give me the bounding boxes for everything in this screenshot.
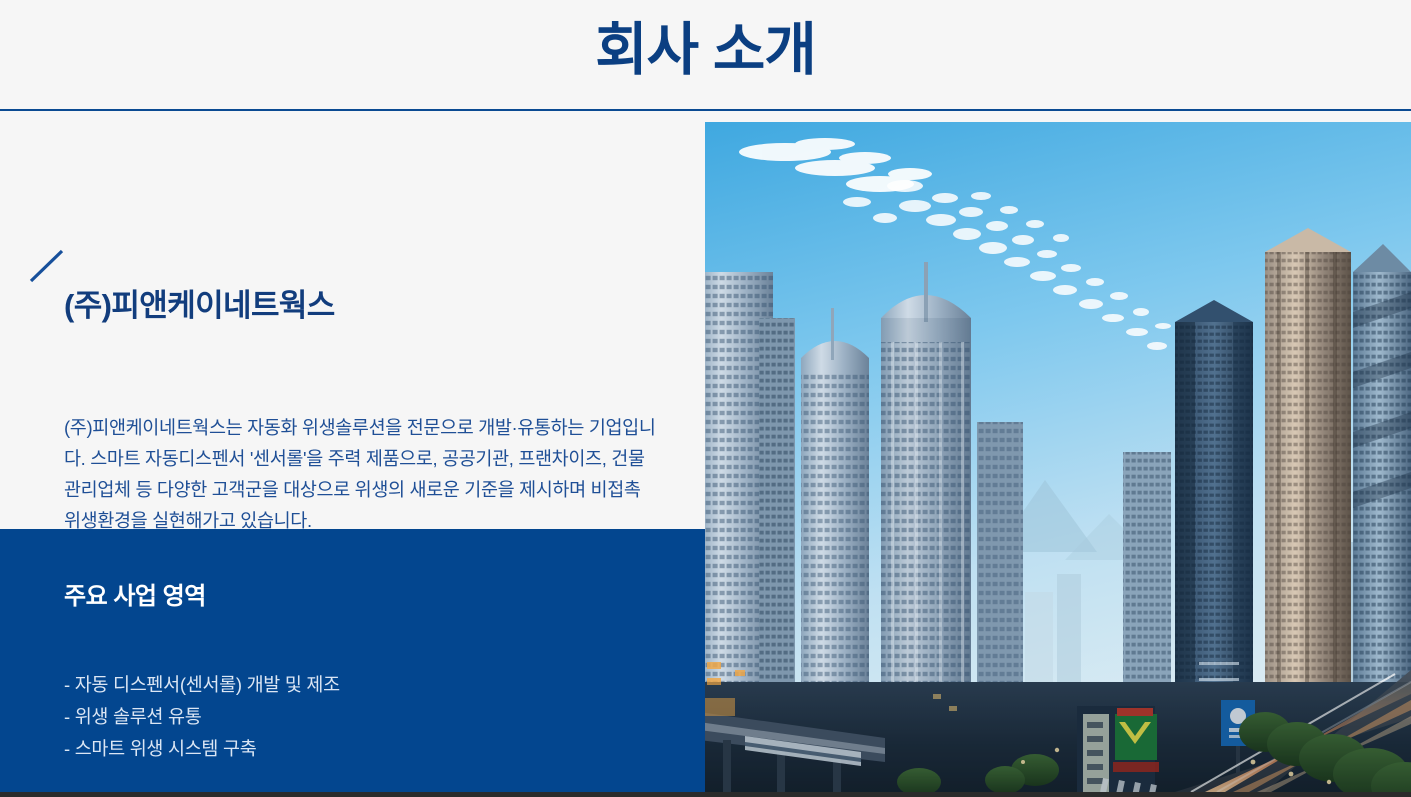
business-areas-list: - 자동 디스펜서(센서롤) 개발 및 제조 - 위생 솔루션 유통 - 스마트… — [64, 669, 624, 765]
company-description: (주)피앤케이네트웍스는 자동화 위생솔루션을 전문으로 개발·유통하는 기업입… — [64, 412, 658, 536]
business-areas-heading: 주요 사업 영역 — [64, 576, 206, 611]
bottom-edge-bar — [0, 792, 1411, 797]
list-item: - 자동 디스펜서(센서롤) 개발 및 제조 — [64, 669, 624, 701]
list-item: - 스마트 위생 시스템 구축 — [64, 733, 624, 765]
business-areas-panel: 주요 사업 영역 - 자동 디스펜서(센서롤) 개발 및 제조 - 위생 솔루션… — [0, 529, 706, 792]
city-skyline-photo — [705, 122, 1411, 792]
slide-canvas: 회사 소개 (주)피앤케이네트웍스 (주)피앤케이네트웍스는 자동화 위생솔루션… — [0, 0, 1411, 797]
diagonal-slash-accent-icon — [28, 247, 68, 285]
slide-header: 회사 소개 — [0, 0, 1411, 111]
company-name: (주)피앤케이네트웍스 — [64, 287, 335, 324]
company-intro-panel: (주)피앤케이네트웍스 (주)피앤케이네트웍스는 자동화 위생솔루션을 전문으로… — [0, 111, 706, 529]
list-item: - 위생 솔루션 유통 — [64, 701, 624, 733]
page-title: 회사 소개 — [0, 19, 1411, 82]
